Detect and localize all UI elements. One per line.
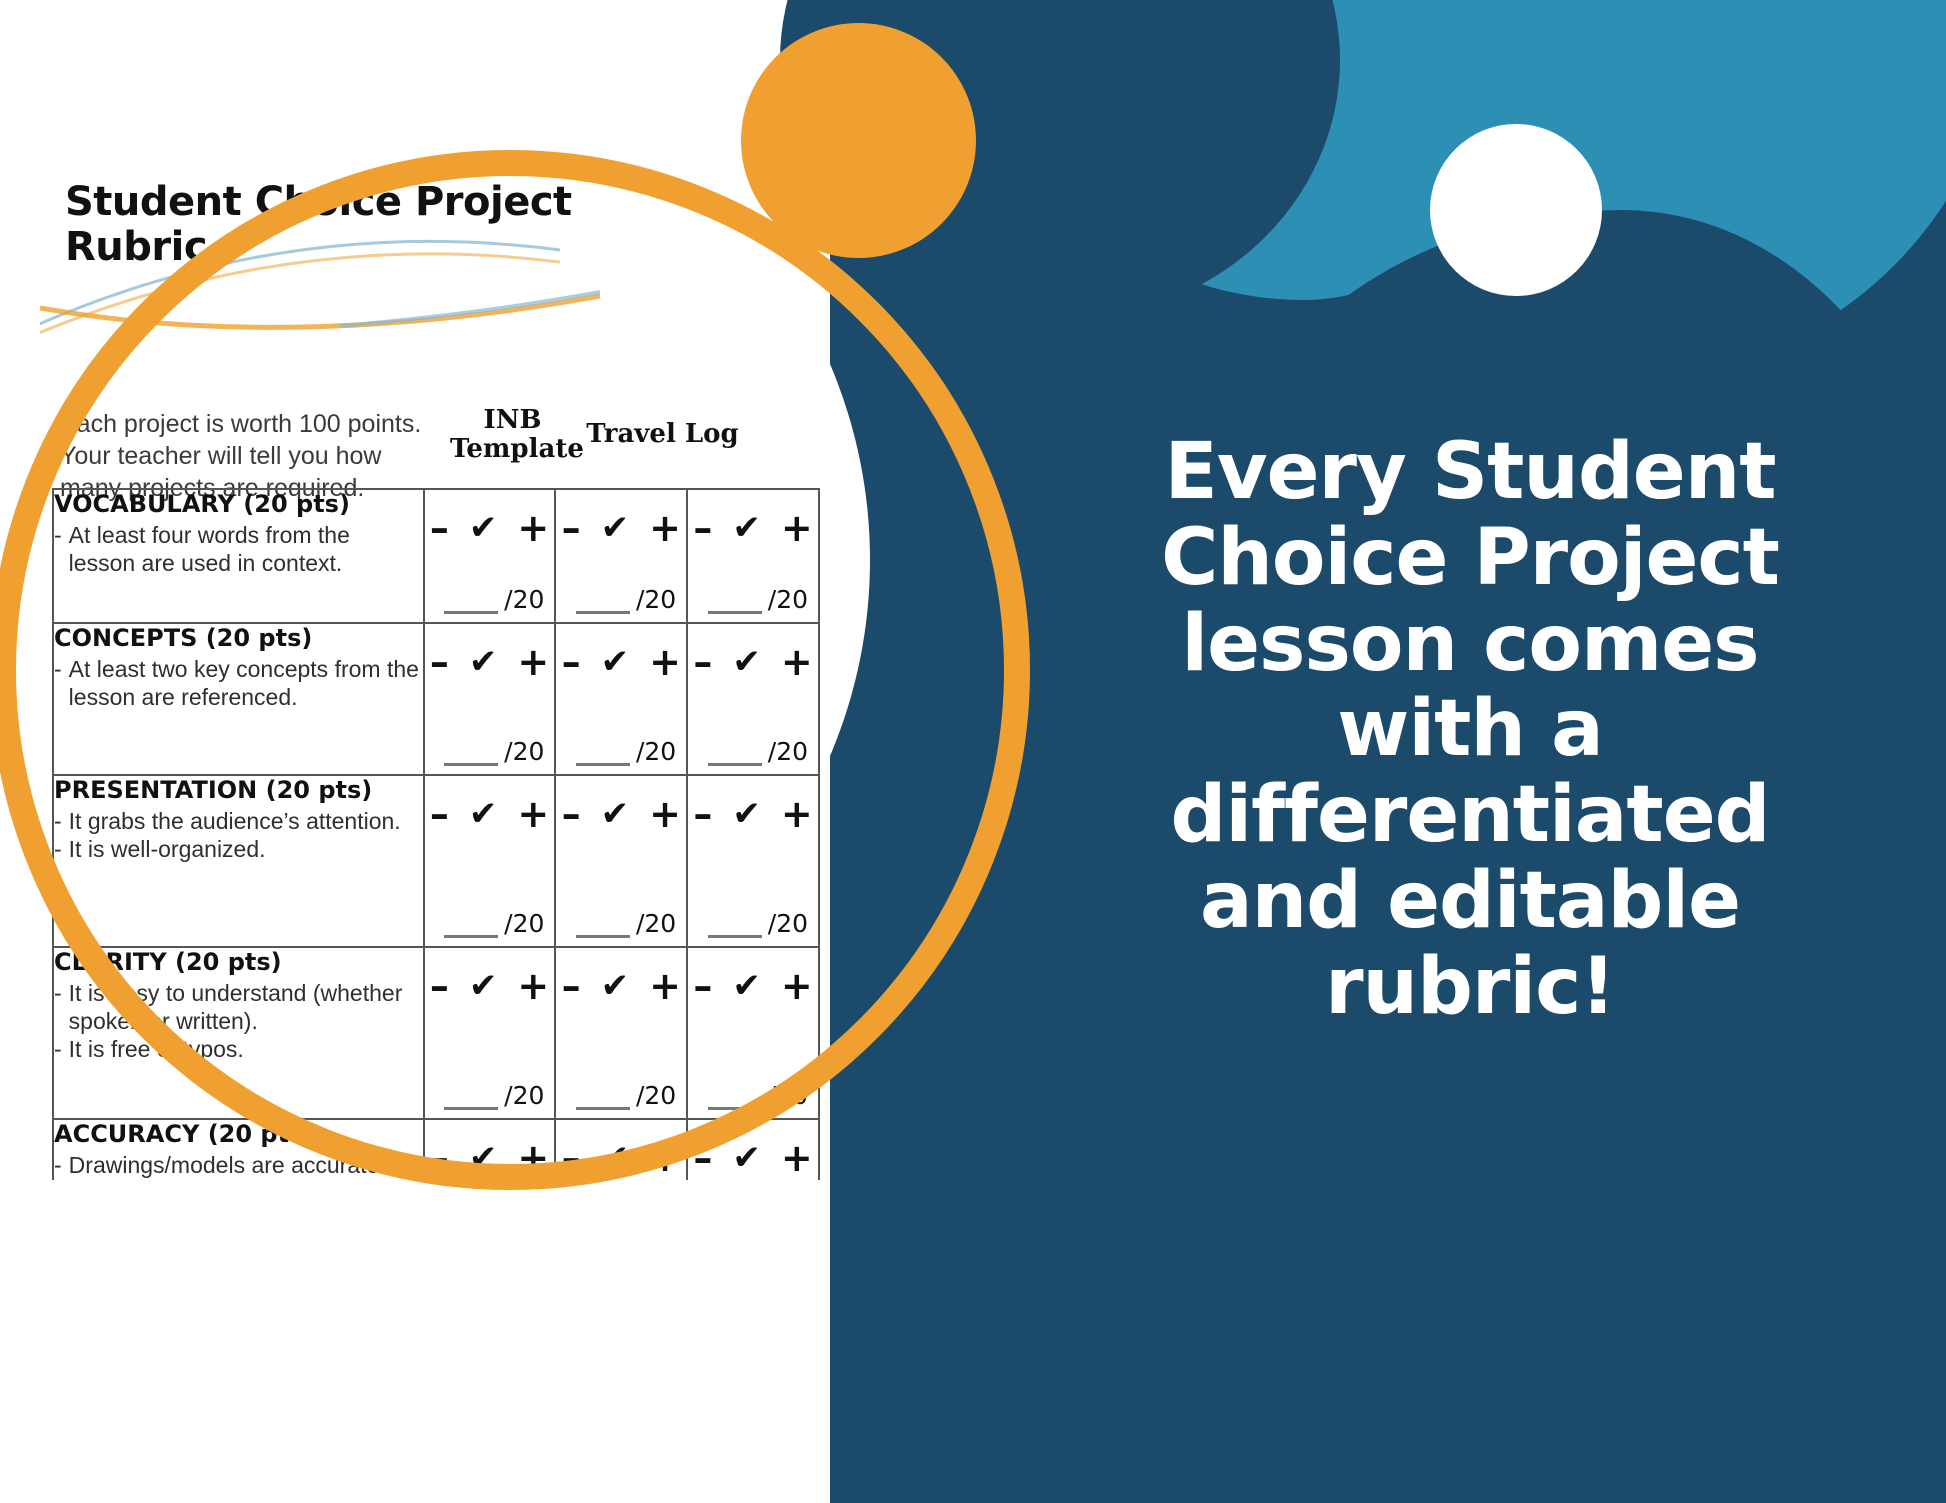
rating-marks[interactable]: –✔+ (556, 1120, 686, 1180)
check-icon[interactable]: ✔ (732, 794, 761, 834)
rating-marks[interactable]: –✔+ (425, 624, 555, 684)
list-item: -Drawings/models are accurate. (54, 1151, 423, 1179)
plus-icon[interactable]: + (781, 792, 813, 836)
score-input-blank[interactable] (444, 743, 498, 766)
rating-marks[interactable]: –✔+ (688, 624, 818, 684)
score-cell-partial[interactable]: –✔+/20 (687, 623, 819, 775)
minus-icon[interactable]: – (562, 651, 581, 674)
score-input-blank[interactable] (576, 743, 630, 766)
minus-icon[interactable]: – (562, 517, 581, 540)
score-max-label: /20 (504, 909, 544, 938)
check-icon[interactable]: ✔ (601, 642, 630, 682)
minus-icon[interactable]: – (430, 651, 449, 674)
score-blank-group[interactable]: /20 (576, 909, 676, 938)
score-input-blank[interactable] (576, 1087, 630, 1110)
score-cell[interactable]: –✔+/20 (424, 489, 556, 623)
bullet-dash: - (54, 1151, 62, 1179)
score-cell[interactable]: –✔+/20 (424, 623, 556, 775)
score-max-label: /20 (504, 585, 544, 614)
criterion-bullets: -At least four words from the lesson are… (54, 521, 423, 577)
plus-icon[interactable]: + (517, 640, 549, 684)
minus-icon[interactable]: – (430, 517, 449, 540)
table-row: ACCURACY (20 pts)-Drawings/models are ac… (53, 1119, 819, 1180)
rating-marks[interactable]: –✔+ (688, 776, 818, 836)
score-blank-group[interactable]: /20 (708, 909, 808, 938)
score-max-label: /20 (636, 585, 676, 614)
column-header-travel-log: Travel Log (580, 420, 745, 449)
promo-graphic: Student Choice Project Rubric Each proje… (0, 0, 1946, 1503)
bullet-text: Information is correct. (69, 1179, 423, 1180)
check-icon[interactable]: ✔ (469, 642, 498, 682)
score-max-label: /20 (768, 1081, 808, 1110)
minus-icon[interactable]: – (562, 1147, 581, 1170)
list-item: -It is free of typos. (54, 1035, 423, 1063)
criterion-title: CLARITY (20 pts) (54, 948, 423, 977)
rating-marks[interactable]: –✔+ (425, 776, 555, 836)
score-blank-group[interactable]: /20 (708, 1081, 808, 1110)
plus-icon[interactable]: + (781, 506, 813, 550)
score-input-blank[interactable] (708, 591, 762, 614)
score-blank-group[interactable]: /20 (576, 737, 676, 766)
score-cell[interactable]: –✔+/20 (424, 775, 556, 947)
plus-icon[interactable]: + (781, 1136, 813, 1180)
plus-icon[interactable]: + (649, 640, 681, 684)
check-icon[interactable]: ✔ (601, 966, 630, 1006)
score-max-label: /20 (636, 737, 676, 766)
score-blank-group[interactable]: /20 (708, 737, 808, 766)
table-row: VOCABULARY (20 pts)-At least four words … (53, 489, 819, 623)
score-cell[interactable]: –✔+/20 (424, 1119, 556, 1180)
criterion-bullets: -Drawings/models are accurate.-Informati… (54, 1151, 423, 1180)
plus-icon[interactable]: + (649, 964, 681, 1008)
bullet-dash: - (54, 655, 62, 711)
score-max-label: /20 (768, 737, 808, 766)
list-item: -At least two key concepts from the less… (54, 655, 423, 711)
score-cell[interactable]: –✔+/20 (555, 623, 687, 775)
bullet-text: It is well-organized. (69, 835, 423, 863)
score-cell-partial[interactable]: –✔+/20 (687, 1119, 819, 1180)
criterion-cell: CLARITY (20 pts)-It is easy to understan… (53, 947, 424, 1119)
criterion-bullets: -At least two key concepts from the less… (54, 655, 423, 711)
list-item: -It is easy to understand (whether spoke… (54, 979, 423, 1035)
check-icon[interactable]: ✔ (601, 794, 630, 834)
criterion-bullets: -It is easy to understand (whether spoke… (54, 979, 423, 1063)
score-cell-partial[interactable]: –✔+/20 (687, 489, 819, 623)
score-input-blank[interactable] (444, 591, 498, 614)
rubric-table: VOCABULARY (20 pts)-At least four words … (52, 488, 820, 1180)
headline-text: Every Student Choice Project lesson come… (1090, 430, 1850, 1031)
check-icon[interactable]: ✔ (601, 1138, 630, 1178)
check-icon[interactable]: ✔ (469, 794, 498, 834)
score-cell[interactable]: –✔+/20 (555, 489, 687, 623)
score-max-label: /20 (504, 737, 544, 766)
minus-icon[interactable]: – (693, 1147, 712, 1170)
plus-icon[interactable]: + (517, 792, 549, 836)
table-row: CONCEPTS (20 pts)-At least two key conce… (53, 623, 819, 775)
bullet-dash: - (54, 979, 62, 1035)
criterion-title: PRESENTATION (20 pts) (54, 776, 423, 805)
check-icon[interactable]: ✔ (732, 1138, 761, 1178)
criterion-cell: CONCEPTS (20 pts)-At least two key conce… (53, 623, 424, 775)
minus-icon[interactable]: – (430, 1147, 449, 1170)
criterion-title: CONCEPTS (20 pts) (54, 624, 423, 653)
rating-marks[interactable]: –✔+ (556, 776, 686, 836)
score-input-blank[interactable] (708, 1087, 762, 1110)
score-cell[interactable]: –✔+/20 (555, 1119, 687, 1180)
minus-icon[interactable]: – (693, 975, 712, 998)
table-row: PRESENTATION (20 pts)-It grabs the audie… (53, 775, 819, 947)
minus-icon[interactable]: – (430, 975, 449, 998)
list-item: -It grabs the audience’s attention. (54, 807, 423, 835)
plus-icon[interactable]: + (517, 964, 549, 1008)
bullet-text: It grabs the audience’s attention. (69, 807, 423, 835)
score-blank-group[interactable]: /20 (444, 1081, 544, 1110)
bullet-dash: - (54, 807, 62, 835)
bullet-dash: - (54, 521, 62, 577)
white-circle-accent (1430, 124, 1602, 296)
score-max-label: /20 (636, 1081, 676, 1110)
rating-marks[interactable]: –✔+ (688, 948, 818, 1008)
bullet-text: At least four words from the lesson are … (69, 521, 423, 577)
bullet-text: It is easy to understand (whether spoken… (69, 979, 423, 1035)
minus-icon[interactable]: – (693, 803, 712, 826)
check-icon[interactable]: ✔ (601, 508, 630, 548)
score-blank-group[interactable]: /20 (576, 1081, 676, 1110)
orange-circle-accent (741, 23, 976, 258)
score-input-blank[interactable] (444, 1087, 498, 1110)
rating-marks[interactable]: –✔+ (556, 624, 686, 684)
rating-marks[interactable]: –✔+ (556, 948, 686, 1008)
criterion-title: ACCURACY (20 pts) (54, 1120, 423, 1149)
header-swoosh-decoration-lower (40, 290, 600, 350)
rating-marks[interactable]: –✔+ (425, 948, 555, 1008)
check-icon[interactable]: ✔ (469, 966, 498, 1006)
score-cell[interactable]: –✔+/20 (555, 775, 687, 947)
plus-icon[interactable]: + (517, 506, 549, 550)
score-cell[interactable]: –✔+/20 (424, 947, 556, 1119)
score-cell-partial[interactable]: –✔+/20 (687, 775, 819, 947)
check-icon[interactable]: ✔ (732, 642, 761, 682)
plus-icon[interactable]: + (649, 1136, 681, 1180)
score-input-blank[interactable] (444, 915, 498, 938)
score-max-label: /20 (504, 1081, 544, 1110)
criterion-cell: PRESENTATION (20 pts)-It grabs the audie… (53, 775, 424, 947)
minus-icon[interactable]: – (562, 975, 581, 998)
score-input-blank[interactable] (708, 915, 762, 938)
rubric-document: Student Choice Project Rubric Each proje… (20, 170, 820, 1180)
rating-marks[interactable]: –✔+ (425, 490, 555, 550)
score-blank-group[interactable]: /20 (708, 585, 808, 614)
check-icon[interactable]: ✔ (469, 1138, 498, 1178)
score-cell[interactable]: –✔+/20 (555, 947, 687, 1119)
bullet-dash: - (54, 1035, 62, 1063)
bullet-text: It is free of typos. (69, 1035, 423, 1063)
score-input-blank[interactable] (708, 743, 762, 766)
check-icon[interactable]: ✔ (469, 508, 498, 548)
bullet-dash: - (54, 835, 62, 863)
criterion-title: VOCABULARY (20 pts) (54, 490, 423, 519)
plus-icon[interactable]: + (781, 640, 813, 684)
minus-icon[interactable]: – (562, 803, 581, 826)
score-blank-group[interactable]: /20 (444, 585, 544, 614)
criterion-cell: VOCABULARY (20 pts)-At least four words … (53, 489, 424, 623)
rating-marks[interactable]: –✔+ (688, 490, 818, 550)
score-blank-group[interactable]: /20 (444, 909, 544, 938)
minus-icon[interactable]: – (693, 517, 712, 540)
score-blank-group[interactable]: /20 (444, 737, 544, 766)
rating-marks[interactable]: –✔+ (688, 1120, 818, 1180)
plus-icon[interactable]: + (781, 964, 813, 1008)
minus-icon[interactable]: – (430, 803, 449, 826)
list-item: -Information is correct. (54, 1179, 423, 1180)
criterion-bullets: -It grabs the audience’s attention.-It i… (54, 807, 423, 863)
list-item: -At least four words from the lesson are… (54, 521, 423, 577)
score-input-blank[interactable] (576, 915, 630, 938)
plus-icon[interactable]: + (649, 792, 681, 836)
column-header-inb-template: INB Template (450, 406, 575, 464)
check-icon[interactable]: ✔ (732, 966, 761, 1006)
bullet-dash: - (54, 1179, 62, 1180)
bullet-text: Drawings/models are accurate. (69, 1151, 423, 1179)
plus-icon[interactable]: + (517, 1136, 549, 1180)
score-max-label: /20 (768, 909, 808, 938)
criterion-cell: ACCURACY (20 pts)-Drawings/models are ac… (53, 1119, 424, 1180)
check-icon[interactable]: ✔ (732, 508, 761, 548)
list-item: -It is well-organized. (54, 835, 423, 863)
score-max-label: /20 (636, 909, 676, 938)
score-cell-partial[interactable]: –✔+/20 (687, 947, 819, 1119)
rating-marks[interactable]: –✔+ (425, 1120, 555, 1180)
bullet-text: At least two key concepts from the lesso… (69, 655, 423, 711)
score-max-label: /20 (768, 585, 808, 614)
minus-icon[interactable]: – (693, 651, 712, 674)
score-input-blank[interactable] (576, 591, 630, 614)
table-row: CLARITY (20 pts)-It is easy to understan… (53, 947, 819, 1119)
plus-icon[interactable]: + (649, 506, 681, 550)
rating-marks[interactable]: –✔+ (556, 490, 686, 550)
score-blank-group[interactable]: /20 (576, 585, 676, 614)
